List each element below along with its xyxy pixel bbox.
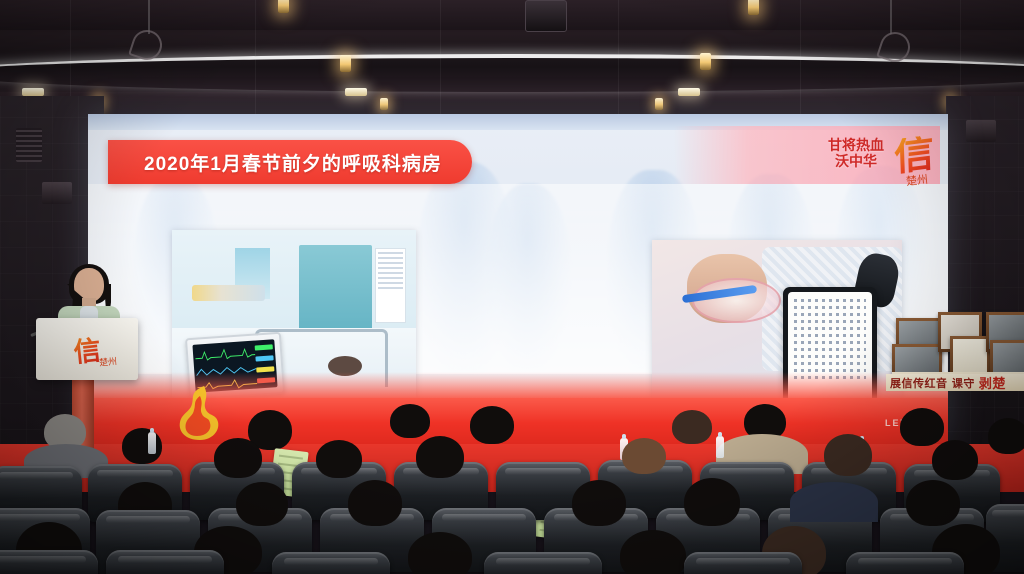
slide-title-text: 2020年1月春节前夕的呼吸科病房 [144,149,442,176]
podium-logo-icon: 信 [72,328,103,370]
audience-head [236,482,288,526]
audience-head [988,418,1024,454]
audience-head [620,530,686,574]
theater-seat[interactable] [272,552,390,574]
audience-head [316,440,362,478]
theater-seat[interactable] [846,552,964,574]
audience-head [408,532,472,574]
audience-head [906,480,960,526]
theater-seat[interactable] [684,552,802,574]
wall-wash-light [678,88,700,96]
calligraphy-seal-icon: 信 [894,135,935,176]
audience-head [348,480,402,526]
podium: 信 楚州 [36,318,138,380]
seal-subtext: 楚州 [905,171,929,189]
theater-seat[interactable] [106,550,224,574]
audience-head [214,438,262,478]
audience-head [672,410,712,444]
slide-title-banner: 2020年1月春节前夕的呼吸科病房 [108,140,472,184]
ward-wall-panel [192,285,265,301]
audience-head [932,440,978,480]
audience-head [390,404,430,438]
water-bottle [716,436,724,458]
ceiling-spotlight [748,0,759,15]
ceiling-led-strip-front [0,54,1024,92]
right-wall [946,96,1024,456]
audience-head [622,438,666,474]
podium-logo-subtext: 楚州 [99,354,118,369]
theater-seat[interactable] [484,552,602,574]
ceiling-spotlight [655,98,663,110]
ceiling [0,0,1024,122]
auditorium-scene: 2020年1月春节前夕的呼吸科病房 甘将热血 沃中华 信 楚州 [0,0,1024,574]
audience-head [572,480,626,526]
audience-shoulders [790,482,878,522]
water-bottle [148,432,156,454]
audience-seating [0,404,1024,574]
ceiling-spotlight [380,98,388,110]
oxygen-mask [692,278,781,323]
ceiling-spotlight [700,53,711,70]
audience-head [122,428,162,464]
audience-head [900,408,944,446]
wall-vent [16,128,42,162]
slide-slogan-block: 甘将热血 沃中华 信 楚州 [674,126,940,184]
audience-head [416,436,464,478]
wall-banner-highlight: 剥楚 [975,374,1006,391]
wall-wash-light [345,88,367,96]
audience-head [684,478,740,526]
slogan-text: 甘将热血 沃中华 [828,139,884,170]
ceiling-spotlight [340,55,351,72]
wall-speaker-box [42,182,72,204]
wall-speaker-box [966,120,996,142]
slogan-line-2: 沃中华 [835,155,877,171]
theater-seat[interactable] [0,550,98,574]
audience-head [470,406,514,444]
wall-banner: 展信传红音 课守 剥楚 [886,374,1024,391]
wall-wash-light [22,88,44,96]
ceiling-projector [525,0,567,32]
audience-head [824,434,872,476]
ward-chart-poster [375,248,406,323]
led-presentation-screen[interactable]: 2020年1月春节前夕的呼吸科病房 甘将热血 沃中华 信 楚州 [88,114,948,444]
ceiling-rig-cable [890,0,892,34]
slogan-line-1: 甘将热血 [828,139,884,155]
wall-banner-text: 展信传红音 课守 [886,375,975,391]
ceiling-spotlight [278,0,289,13]
